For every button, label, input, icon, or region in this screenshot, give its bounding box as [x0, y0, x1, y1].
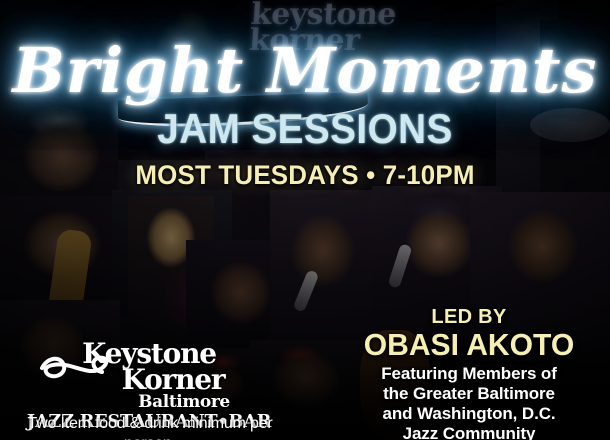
minimum-notice: Two Item food & drink minimum per person… [0, 414, 300, 440]
featuring-line-1: Featuring Members of [344, 364, 594, 384]
flyer-poster: keystone korner Bright Moments JAM SESSI… [0, 0, 610, 440]
title-script: Bright Moments [0, 36, 610, 106]
logo-line-baltimore: Baltimore [18, 393, 280, 411]
featuring-block: Featuring Members of the Greater Baltimo… [344, 364, 594, 440]
featuring-line-4: Jazz Community [344, 424, 594, 440]
featuring-line-2: the Greater Baltimore [344, 384, 594, 404]
led-by-label: LED BY [344, 306, 594, 328]
logo-line-korner: Korner [18, 367, 280, 393]
logo-lockup: Keystone Korner Baltimore [18, 340, 280, 411]
credits-block: LED BY OBASI AKOTO Featuring Members of … [344, 306, 594, 440]
schedule-line: MOST TUESDAYS • 7-10PM [12, 160, 598, 190]
leader-name: OBASI AKOTO [348, 328, 591, 362]
title-jam-sessions: JAM SESSIONS [24, 106, 585, 152]
featuring-line-3: and Washington, D.C. [344, 404, 594, 424]
